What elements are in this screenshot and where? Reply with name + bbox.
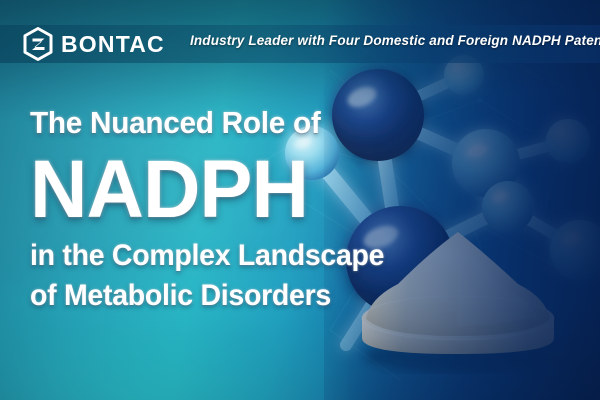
headline-block: The Nuanced Role of NADPH in the Complex… [30, 104, 360, 316]
headline-line-3: in the Complex Landscape [30, 236, 344, 276]
promo-banner: BONTAC Industry Leader with Four Domesti… [0, 0, 600, 400]
bontac-hexagon-logo-icon [22, 27, 54, 61]
headline-line-2: NADPH [30, 150, 350, 230]
headline-line-4: of Metabolic Disorders [30, 276, 344, 316]
brand-name: BONTAC [61, 33, 165, 56]
headline-line-1: The Nuanced Role of [30, 104, 347, 142]
tagline-text: Industry Leader with Four Domestic and F… [190, 33, 586, 48]
brand-logo[interactable]: BONTAC [22, 27, 165, 61]
